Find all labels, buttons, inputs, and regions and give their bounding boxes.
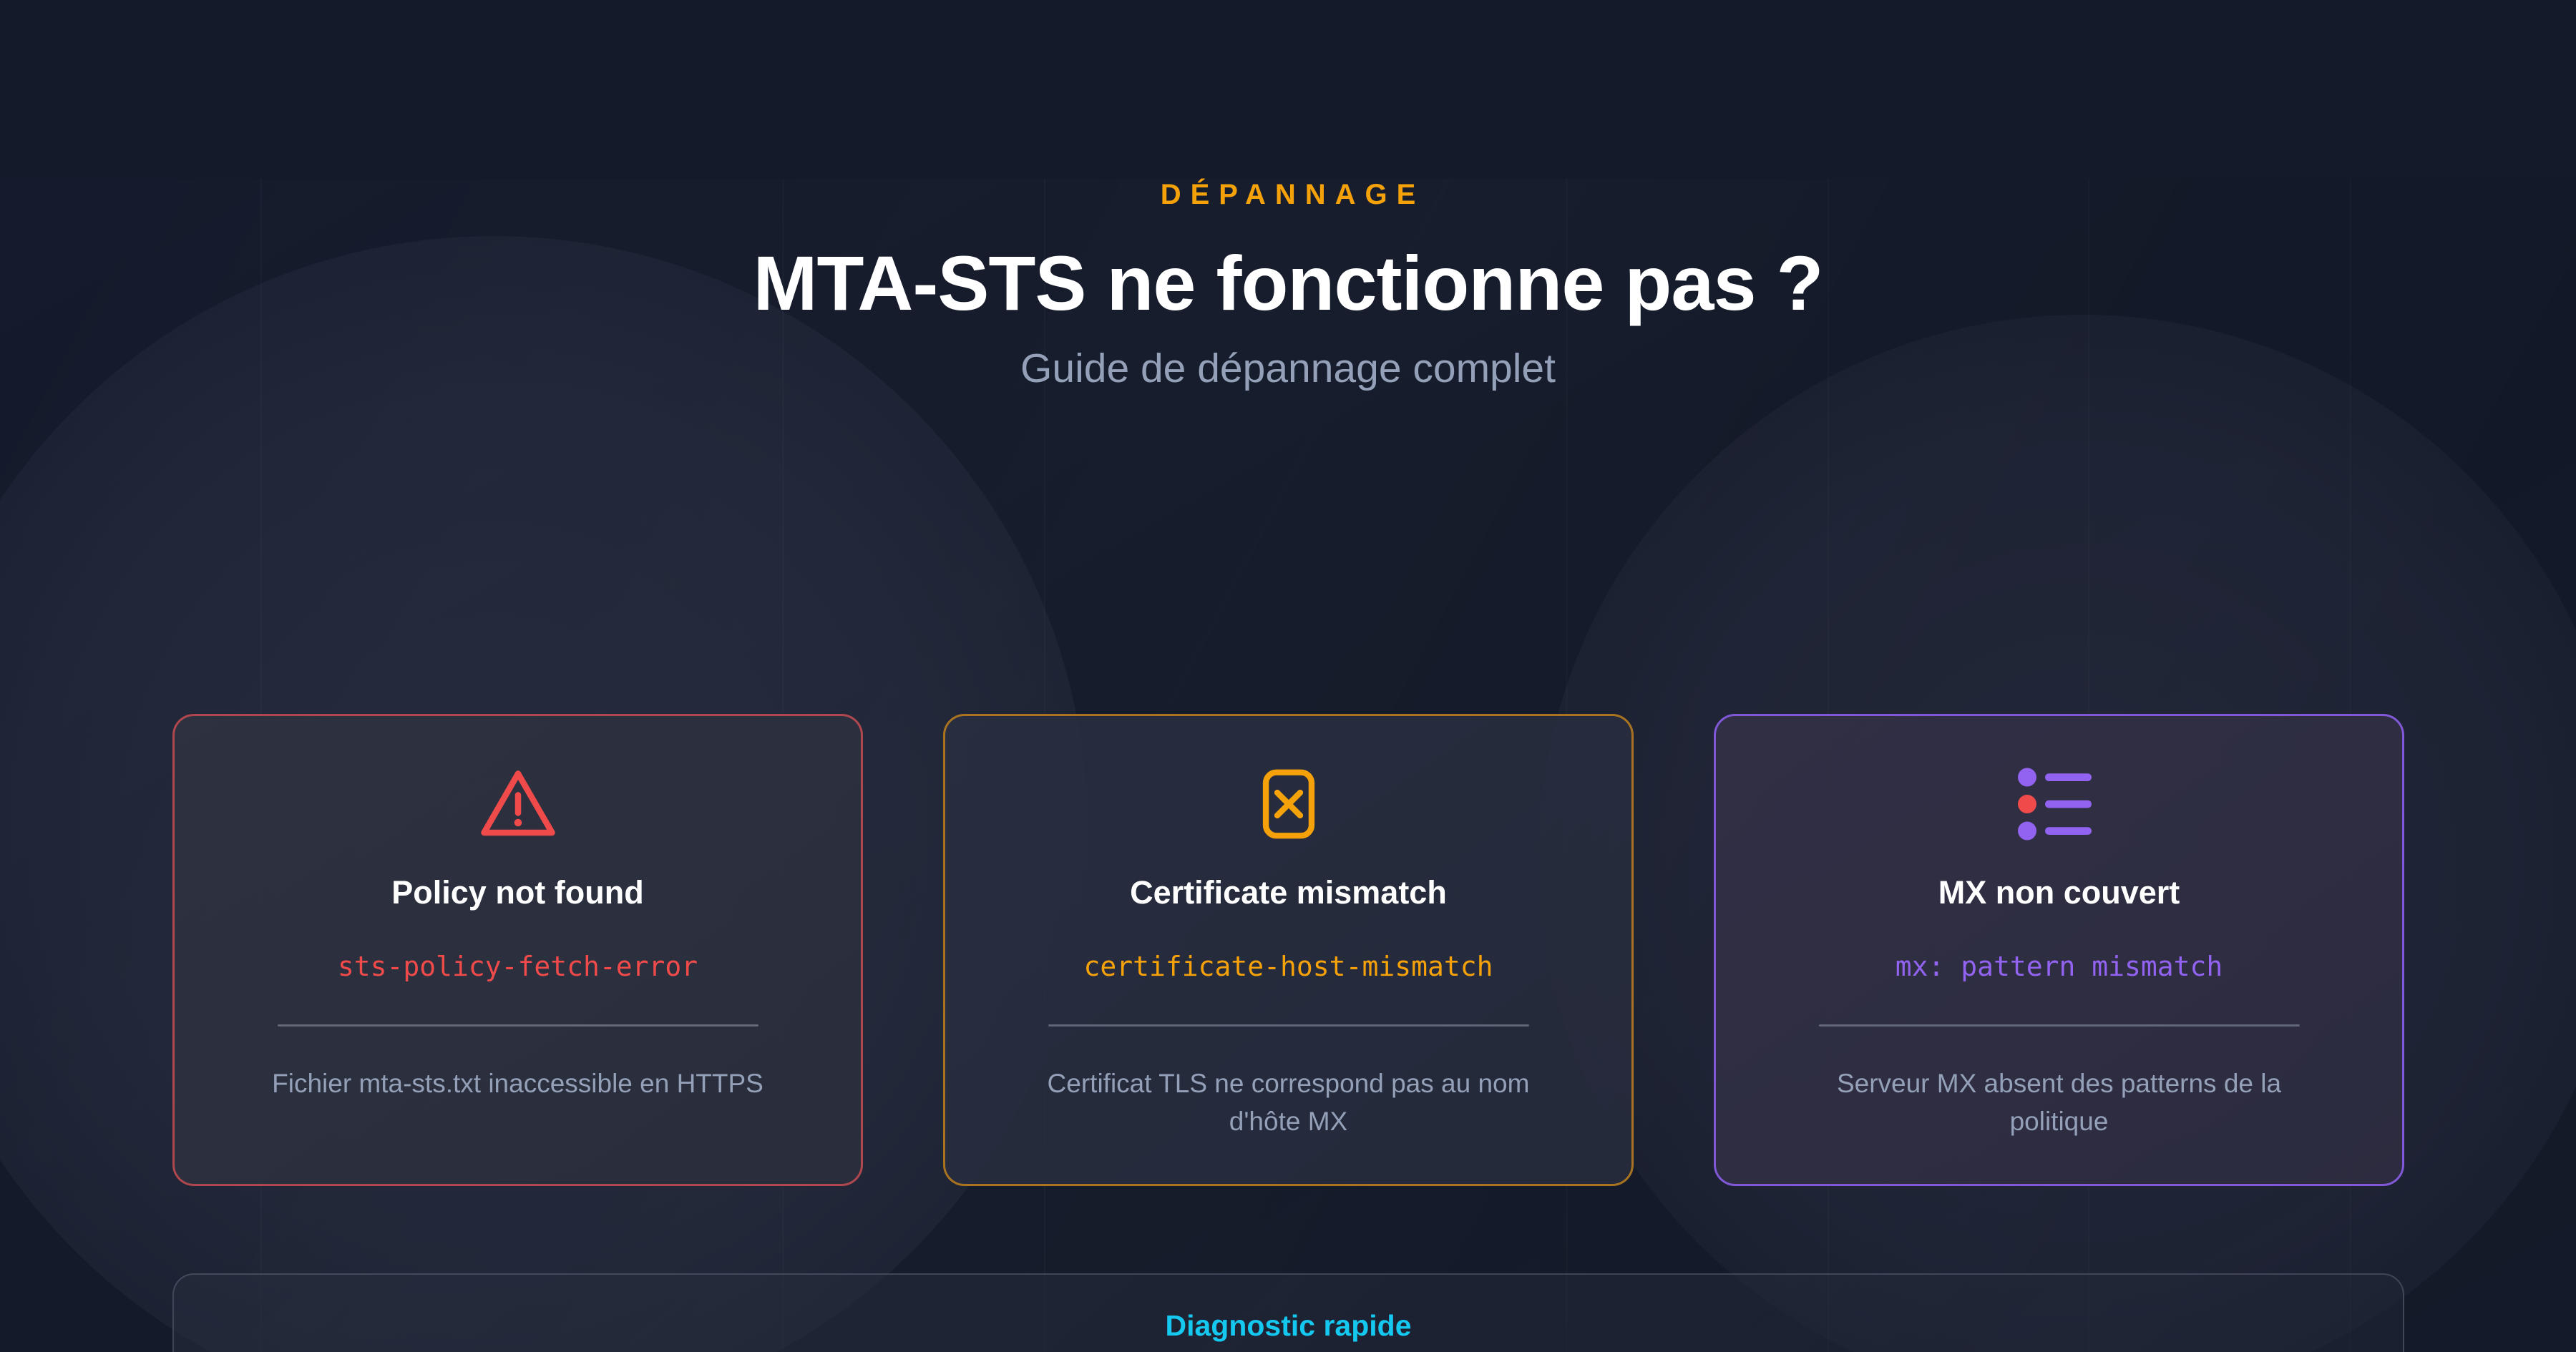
card-title: Certificate mismatch	[1130, 875, 1447, 911]
card-divider	[1048, 1024, 1529, 1027]
card-icon-slot	[2013, 736, 2106, 872]
card-title: MX non couvert	[1938, 875, 2180, 911]
mx-list-icon	[2013, 765, 2106, 843]
warning-triangle-icon	[475, 761, 561, 847]
eyebrow-label: DÉPANNAGE	[0, 179, 2576, 211]
card-description: Fichier mta-sts.txt inaccessible en HTTP…	[260, 1065, 776, 1103]
card-divider	[1819, 1024, 2300, 1027]
card-error-code: sts-policy-fetch-error	[338, 952, 698, 982]
troubleshooting-page: DÉPANNAGE MTA-STS ne fonctionne pas ? Gu…	[0, 179, 2576, 1352]
error-card-policy-not-found[interactable]: Policy not found sts-policy-fetch-error …	[172, 714, 863, 1186]
card-error-code: mx: pattern mismatch	[1896, 952, 2223, 982]
page-subtitle: Guide de dépannage complet	[0, 346, 2576, 391]
card-icon-slot	[1246, 736, 1331, 872]
error-cards-row: Policy not found sts-policy-fetch-error …	[172, 714, 2404, 1186]
card-description: Serveur MX absent des patterns de la pol…	[1802, 1065, 2317, 1140]
card-description: Certificat TLS ne correspond pas au nom …	[1031, 1065, 1546, 1140]
error-card-certificate-mismatch[interactable]: Certificate mismatch certificate-host-mi…	[943, 714, 1634, 1186]
card-icon-slot	[475, 736, 561, 872]
quick-diagnostic-panel[interactable]: Diagnostic rapide curl -s https://mta-st…	[172, 1273, 2404, 1352]
card-divider	[278, 1024, 758, 1027]
diagnostic-title: Diagnostic rapide	[1165, 1310, 1411, 1342]
page-header: DÉPANNAGE MTA-STS ne fonctionne pas ? Gu…	[0, 179, 2576, 391]
page-title: MTA-STS ne fonctionne pas ?	[0, 243, 2576, 323]
card-error-code: certificate-host-mismatch	[1084, 952, 1493, 982]
card-title: Policy not found	[391, 875, 643, 911]
certificate-x-icon	[1246, 762, 1331, 846]
error-card-mx-not-covered[interactable]: MX non couvert mx: pattern mismatch Serv…	[1714, 714, 2404, 1186]
